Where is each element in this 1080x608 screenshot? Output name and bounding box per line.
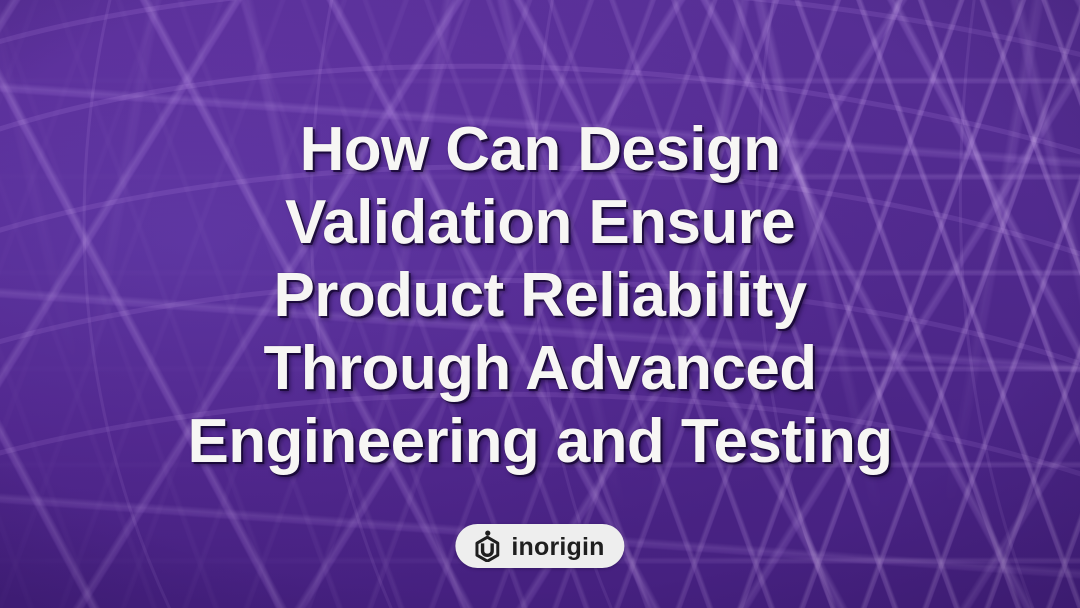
headline-line-2: Validation Ensure [0,186,1080,259]
brand-logo[interactable]: inorigin [455,524,624,568]
headline-line-1: How Can Design [0,113,1080,186]
headline-line-5: Engineering and Testing [0,405,1080,478]
brand-wordmark: inorigin [511,535,604,560]
page-title: How Can Design Validation Ensure Product… [0,113,1080,478]
hexagon-cube-icon [472,530,502,562]
headline-line-3: Product Reliability [0,259,1080,332]
banner-image: How Can Design Validation Ensure Product… [0,0,1080,608]
headline-line-4: Through Advanced [0,332,1080,405]
